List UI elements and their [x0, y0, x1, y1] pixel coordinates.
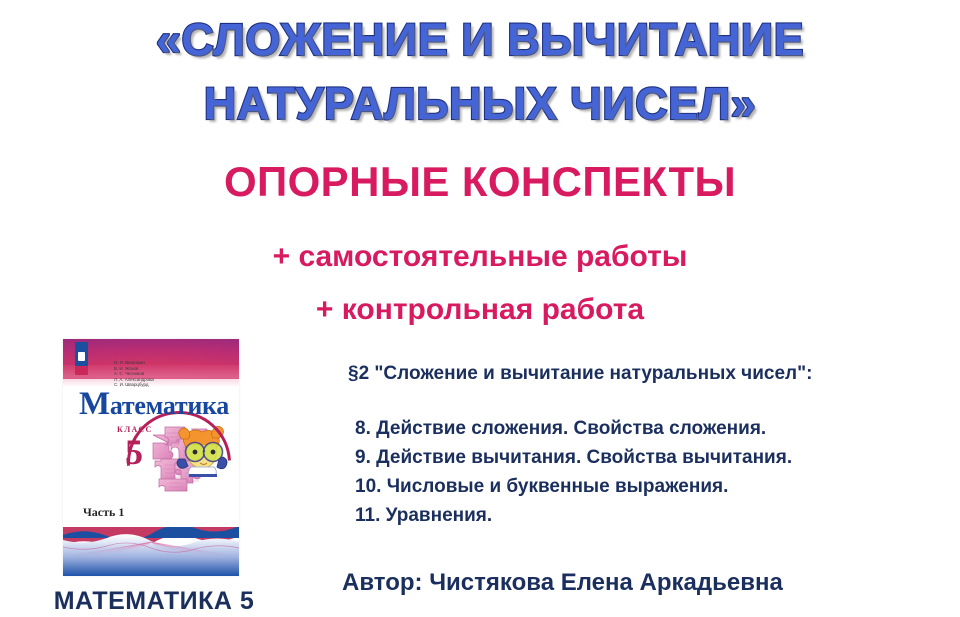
- cover-author-list: Н. Я. Виленкин В. И. Жохов А. С. Чесноко…: [114, 360, 154, 388]
- title-line-2: НАТУРАЛЬНЫХ ЧИСЕЛ»: [0, 72, 960, 136]
- plus-line-1: + самостоятельные работы: [0, 230, 960, 283]
- topics-list: 8. Действие сложения. Свойства сложения.…: [348, 414, 948, 530]
- title-line-1: «СЛОЖЕНИЕ И ВЫЧИТАНИЕ: [0, 8, 960, 72]
- topic-item: 11. Уравнения.: [348, 501, 948, 530]
- cover-title-initial: М: [79, 386, 110, 422]
- topic-item: 8. Действие сложения. Свойства сложения.: [348, 414, 948, 443]
- heading-opornye-konspekty: ОПОРНЫЕ КОНСПЕКТЫ: [0, 158, 960, 206]
- slide-canvas: «СЛОЖЕНИЕ И ВЫЧИТАНИЕ НАТУРАЛЬНЫХ ЧИСЕЛ»…: [0, 0, 960, 617]
- cover-author: С. И. Шварцбурд: [114, 382, 154, 388]
- cover-grade-number: 5: [125, 433, 143, 471]
- cover-wave-graphic: [63, 527, 239, 576]
- cover-bottom-wave-band: [63, 527, 239, 576]
- textbook-cover-image: Н. Я. Виленкин В. И. Жохов А. С. Чесноко…: [63, 339, 239, 576]
- cover-title: Математика: [79, 390, 229, 420]
- topic-item: 9. Действие вычитания. Свойства вычитани…: [348, 443, 948, 472]
- prosveshchenie-logo-icon: [75, 342, 88, 375]
- cover-part-label: Часть 1: [83, 505, 124, 520]
- plus-lines-group: + самостоятельные работы + контрольная р…: [0, 230, 960, 336]
- topic-item: 10. Числовые и буквенные выражения.: [348, 472, 948, 501]
- plus-line-2: + контрольная работа: [0, 283, 960, 336]
- slide-title: «СЛОЖЕНИЕ И ВЫЧИТАНИЕ НАТУРАЛЬНЫХ ЧИСЕЛ»: [0, 8, 960, 136]
- topics-section-heading: §2 "Сложение и вычитание натуральных чис…: [348, 362, 948, 386]
- author-line: Автор: Чистякова Елена Аркадьевна: [342, 568, 783, 598]
- topics-block: §2 "Сложение и вычитание натуральных чис…: [348, 362, 948, 530]
- book-caption: МАТЕМАТИКА 5: [48, 586, 260, 616]
- cover-title-rest: атематика: [110, 391, 229, 420]
